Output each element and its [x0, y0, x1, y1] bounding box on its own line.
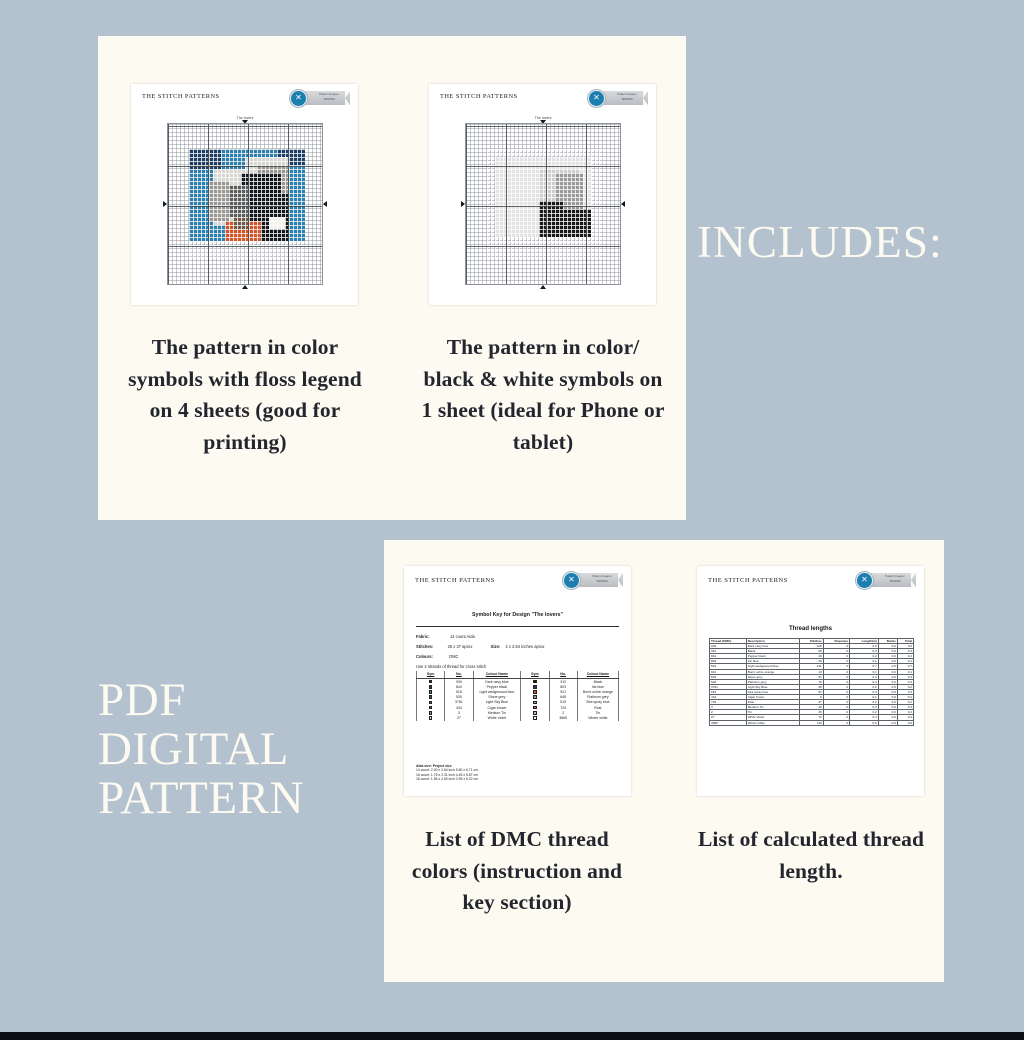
- sheet-header: THE STITCH PATTERNS Pattern Keeper TESTE…: [429, 84, 656, 110]
- symbol-box-icon: [533, 701, 537, 705]
- badge-seal-icon: [588, 90, 605, 107]
- badge-seal-icon: [563, 572, 580, 589]
- preview-sheet-symbol-key[interactable]: THE STITCH PATTERNS Pattern Keeper TESTE…: [404, 566, 631, 796]
- table-header-row: SymNo.Colour NameSymNo.Colour Name: [417, 671, 619, 679]
- symbol-box-icon: [429, 711, 433, 715]
- preview-sheet-bw-chart[interactable]: THE STITCH PATTERNS Pattern Keeper TESTE…: [429, 84, 656, 305]
- bottom-border: [0, 1032, 1024, 1040]
- table-cell: 0: [823, 720, 849, 725]
- chart-tick-bottom-icon: [540, 285, 546, 289]
- symbol-box-icon: [429, 690, 433, 694]
- column-header: Sym: [417, 671, 445, 679]
- symbol-box-icon: [429, 680, 433, 684]
- symbol-box-icon: [429, 685, 433, 689]
- symbol-box-icon: [533, 685, 537, 689]
- pattern-keeper-badge: Pattern Keeper TESTED: [588, 90, 648, 107]
- caption-thread-length: List of calculated thread length.: [690, 824, 932, 887]
- sheet-header: THE STITCH PATTERNS Pattern Keeper TESTE…: [697, 566, 924, 592]
- table-cell: 0.6: [850, 720, 879, 725]
- badge-text: Pattern Keeper TESTED: [876, 574, 914, 584]
- symbol-box-icon: [533, 716, 537, 720]
- caption-dmc-list: List of DMC thread colors (instruction a…: [404, 824, 630, 919]
- stitch-block: [189, 149, 221, 169]
- heading-line-pdf: PDF: [98, 676, 304, 725]
- column-header: Sym: [521, 671, 549, 679]
- sheet-header: THE STITCH PATTERNS Pattern Keeper TESTE…: [404, 566, 631, 592]
- pattern-keeper-badge: Pattern Keeper TESTED: [290, 90, 350, 107]
- symbol-key-title: Symbol Key for Design "The lovers": [404, 612, 631, 618]
- symbol-box-icon: [533, 680, 537, 684]
- sheet-header: THE STITCH PATTERNS Pattern Keeper TESTE…: [131, 84, 358, 110]
- symbol-box-icon: [533, 690, 537, 694]
- chart-grid: [167, 123, 323, 285]
- symbol-box-icon: [429, 695, 433, 699]
- symbol-box-icon: [533, 706, 537, 710]
- meta-strands-note: Use 2 strands of thread for cross stitch: [416, 664, 486, 669]
- column-header: Colour Name: [577, 671, 618, 679]
- symbol-box-icon: [429, 706, 433, 710]
- column-header: No.: [445, 671, 473, 679]
- chart-tick-right-icon: [621, 201, 625, 207]
- table-cell: Burnt ochre orange: [577, 689, 618, 694]
- table-cell: 110: [800, 720, 824, 725]
- sheet-brand-title: THE STITCH PATTERNS: [142, 93, 220, 100]
- badge-text: Pattern Keeper TESTED: [608, 92, 646, 102]
- preview-sheet-thread-lengths[interactable]: THE STITCH PATTERNS Pattern Keeper TESTE…: [697, 566, 924, 796]
- aida-size-footnote: Aida size: Project size 14 count: 2.00 x…: [416, 764, 478, 782]
- symbol-box-icon: [429, 701, 433, 705]
- badge-seal-icon: [290, 90, 307, 107]
- preview-sheet-color-chart[interactable]: THE STITCH PATTERNS Pattern Keeper TESTE…: [131, 84, 358, 305]
- stitch-block: [209, 181, 229, 221]
- heading-pdf-digital-pattern: PDF DIGITAL PATTERN: [98, 676, 304, 823]
- table-cell: 3865: [549, 715, 577, 720]
- symbol-swatch: [521, 715, 549, 720]
- caption-bw-symbols: The pattern in color/ black & white symb…: [420, 332, 666, 458]
- symbol-key-table: SymNo.Colour NameSymNo.Colour Name 939Da…: [416, 671, 619, 727]
- chart-grid: [465, 123, 621, 285]
- column-header: No.: [549, 671, 577, 679]
- table-cell: Light wedgewood blue: [473, 689, 521, 694]
- symbol-box-icon: [533, 695, 537, 699]
- chart-tick-right-icon: [323, 201, 327, 207]
- thread-lengths-table: Thread (DMC)DescriptionStitchesPequniesL…: [709, 638, 914, 726]
- table-cell: 0.6: [897, 720, 913, 725]
- stitch-block-bw: [563, 209, 591, 237]
- meta-stitches: Stitches: 26 x 37 aprox Size: 2 x 2.64 i…: [416, 644, 544, 649]
- symbol-box-icon: [429, 716, 433, 720]
- table-cell: 27: [445, 715, 473, 720]
- chart-artwork: [189, 149, 305, 259]
- table-cell: White Violet: [473, 715, 521, 720]
- heading-line-digital: DIGITAL: [98, 725, 304, 774]
- sheet-brand-title: THE STITCH PATTERNS: [415, 577, 495, 584]
- divider: [416, 626, 619, 627]
- heading-includes: INCLUDES:: [697, 216, 943, 268]
- pattern-keeper-badge: Pattern Keeper TESTED: [563, 572, 623, 589]
- table-cell: Winter white: [746, 720, 799, 725]
- stitch-block: [233, 217, 249, 229]
- badge-seal-icon: [856, 572, 873, 589]
- table-cell: 0.0: [878, 720, 897, 725]
- sheet-brand-title: THE STITCH PATTERNS: [708, 577, 788, 584]
- column-header: Colour Name: [473, 671, 521, 679]
- stitch-block: [229, 185, 249, 217]
- stitch-block-bw: [539, 201, 563, 237]
- chart-artwork-bw: [487, 149, 603, 259]
- chart-tick-bottom-icon: [242, 285, 248, 289]
- symbol-box-icon: [533, 711, 537, 715]
- table-cell: 3865: [710, 720, 747, 725]
- thread-lengths-body: 939Dark navy blue12500.60.00.6310Black66…: [710, 644, 914, 726]
- table-cell: Winter white: [577, 715, 618, 720]
- symbol-key-body: 939Dark navy blue310Black844Pepper black…: [417, 679, 619, 721]
- poster-canvas: THE STITCH PATTERNS Pattern Keeper TESTE…: [0, 0, 1024, 1040]
- thread-lengths-title: Thread lengths: [697, 626, 924, 632]
- caption-color-symbols: The pattern in color symbols with floss …: [126, 332, 364, 458]
- badge-text: Pattern Keeper TESTED: [310, 92, 348, 102]
- meta-colours: Colours: DMC: [416, 654, 458, 659]
- color-chart: The lovers: [153, 116, 337, 294]
- table-row: 3865Winter white11000.60.00.6: [710, 720, 914, 725]
- heading-line-pattern: PATTERN: [98, 774, 304, 823]
- badge-text: Pattern Keeper TESTED: [583, 574, 621, 584]
- table-row: 27White Violet3865Winter white: [417, 715, 619, 720]
- sheet-brand-title: THE STITCH PATTERNS: [440, 93, 518, 100]
- bw-chart: The lovers: [451, 116, 635, 294]
- symbol-swatch: [417, 715, 445, 720]
- pattern-keeper-badge: Pattern Keeper TESTED: [856, 572, 916, 589]
- stitch-block: [269, 217, 285, 229]
- meta-fabric: Fabric: 14 count Aida: [416, 634, 475, 639]
